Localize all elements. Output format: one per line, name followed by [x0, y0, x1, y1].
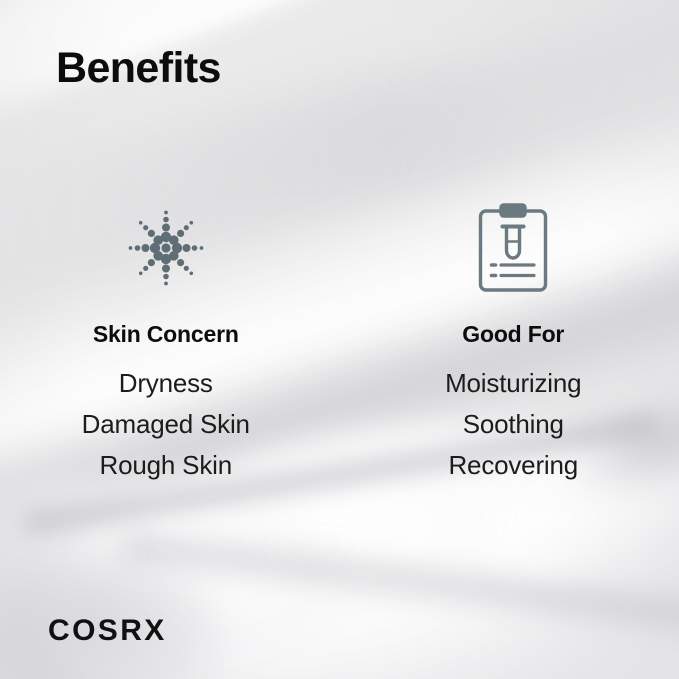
benefit-columns: Skin Concern Dryness Damaged Skin Rough …: [0, 196, 679, 486]
content-layer: Benefits: [0, 0, 679, 679]
dotted-starburst-icon: [118, 200, 214, 296]
list-item: Rough Skin: [100, 445, 232, 486]
good-for-list: Moisturizing Soothing Recovering: [445, 363, 581, 486]
skin-concern-icon-wrap: [118, 196, 214, 300]
cosrx-brand-logo: COSRX: [48, 616, 167, 646]
benefit-column-skin-concern: Skin Concern Dryness Damaged Skin Rough …: [0, 196, 336, 486]
clipboard-test-tube-icon: [476, 202, 550, 294]
list-item: Soothing: [463, 404, 564, 445]
list-item: Damaged Skin: [82, 404, 250, 445]
list-item: Recovering: [448, 445, 578, 486]
good-for-icon-wrap: [476, 196, 550, 300]
page-title: Benefits: [56, 47, 221, 90]
benefits-infographic: Benefits: [0, 0, 679, 679]
column-heading-skin-concern: Skin Concern: [93, 322, 239, 347]
benefit-column-good-for: Good For Moisturizing Soothing Recoverin…: [336, 196, 679, 486]
column-heading-good-for: Good For: [462, 322, 564, 347]
skin-concern-list: Dryness Damaged Skin Rough Skin: [82, 363, 250, 486]
list-item: Dryness: [119, 363, 213, 404]
list-item: Moisturizing: [445, 363, 581, 404]
